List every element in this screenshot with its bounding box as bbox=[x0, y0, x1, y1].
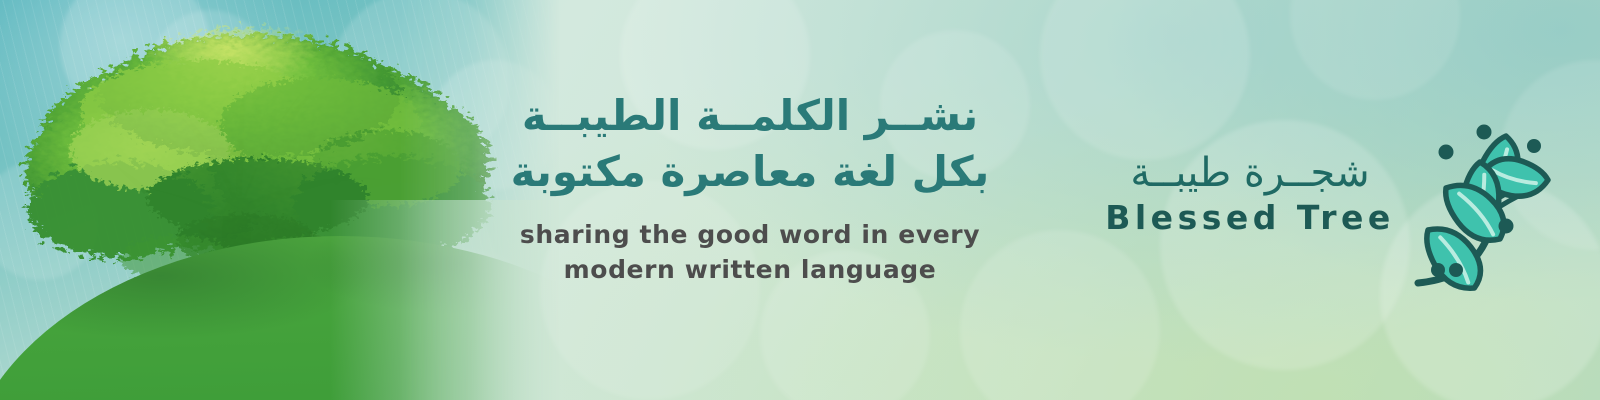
headline-english-block: sharing the good word in every modern wr… bbox=[470, 217, 1030, 288]
brand-lockup: شجــرة طيبــة Blessed Tree bbox=[1100, 152, 1400, 236]
blessed-tree-banner: نشــر الكلمــة الطيبــة بكل لغة معاصرة م… bbox=[0, 0, 1600, 400]
headline-english-line-2: modern written language bbox=[470, 252, 1030, 288]
headline-block: نشــر الكلمــة الطيبــة بكل لغة معاصرة م… bbox=[470, 88, 1030, 288]
brand-name-arabic: شجــرة طيبــة bbox=[1100, 152, 1400, 194]
sapling-tree-logo bbox=[1402, 118, 1572, 298]
headline-english-line-1: sharing the good word in every bbox=[470, 217, 1030, 253]
brand-name-english: Blessed Tree bbox=[1100, 200, 1400, 236]
headline-arabic-line-1: نشــر الكلمــة الطيبــة bbox=[470, 88, 1030, 144]
headline-arabic-line-2: بكل لغة معاصرة مكتوبة bbox=[470, 144, 1030, 200]
